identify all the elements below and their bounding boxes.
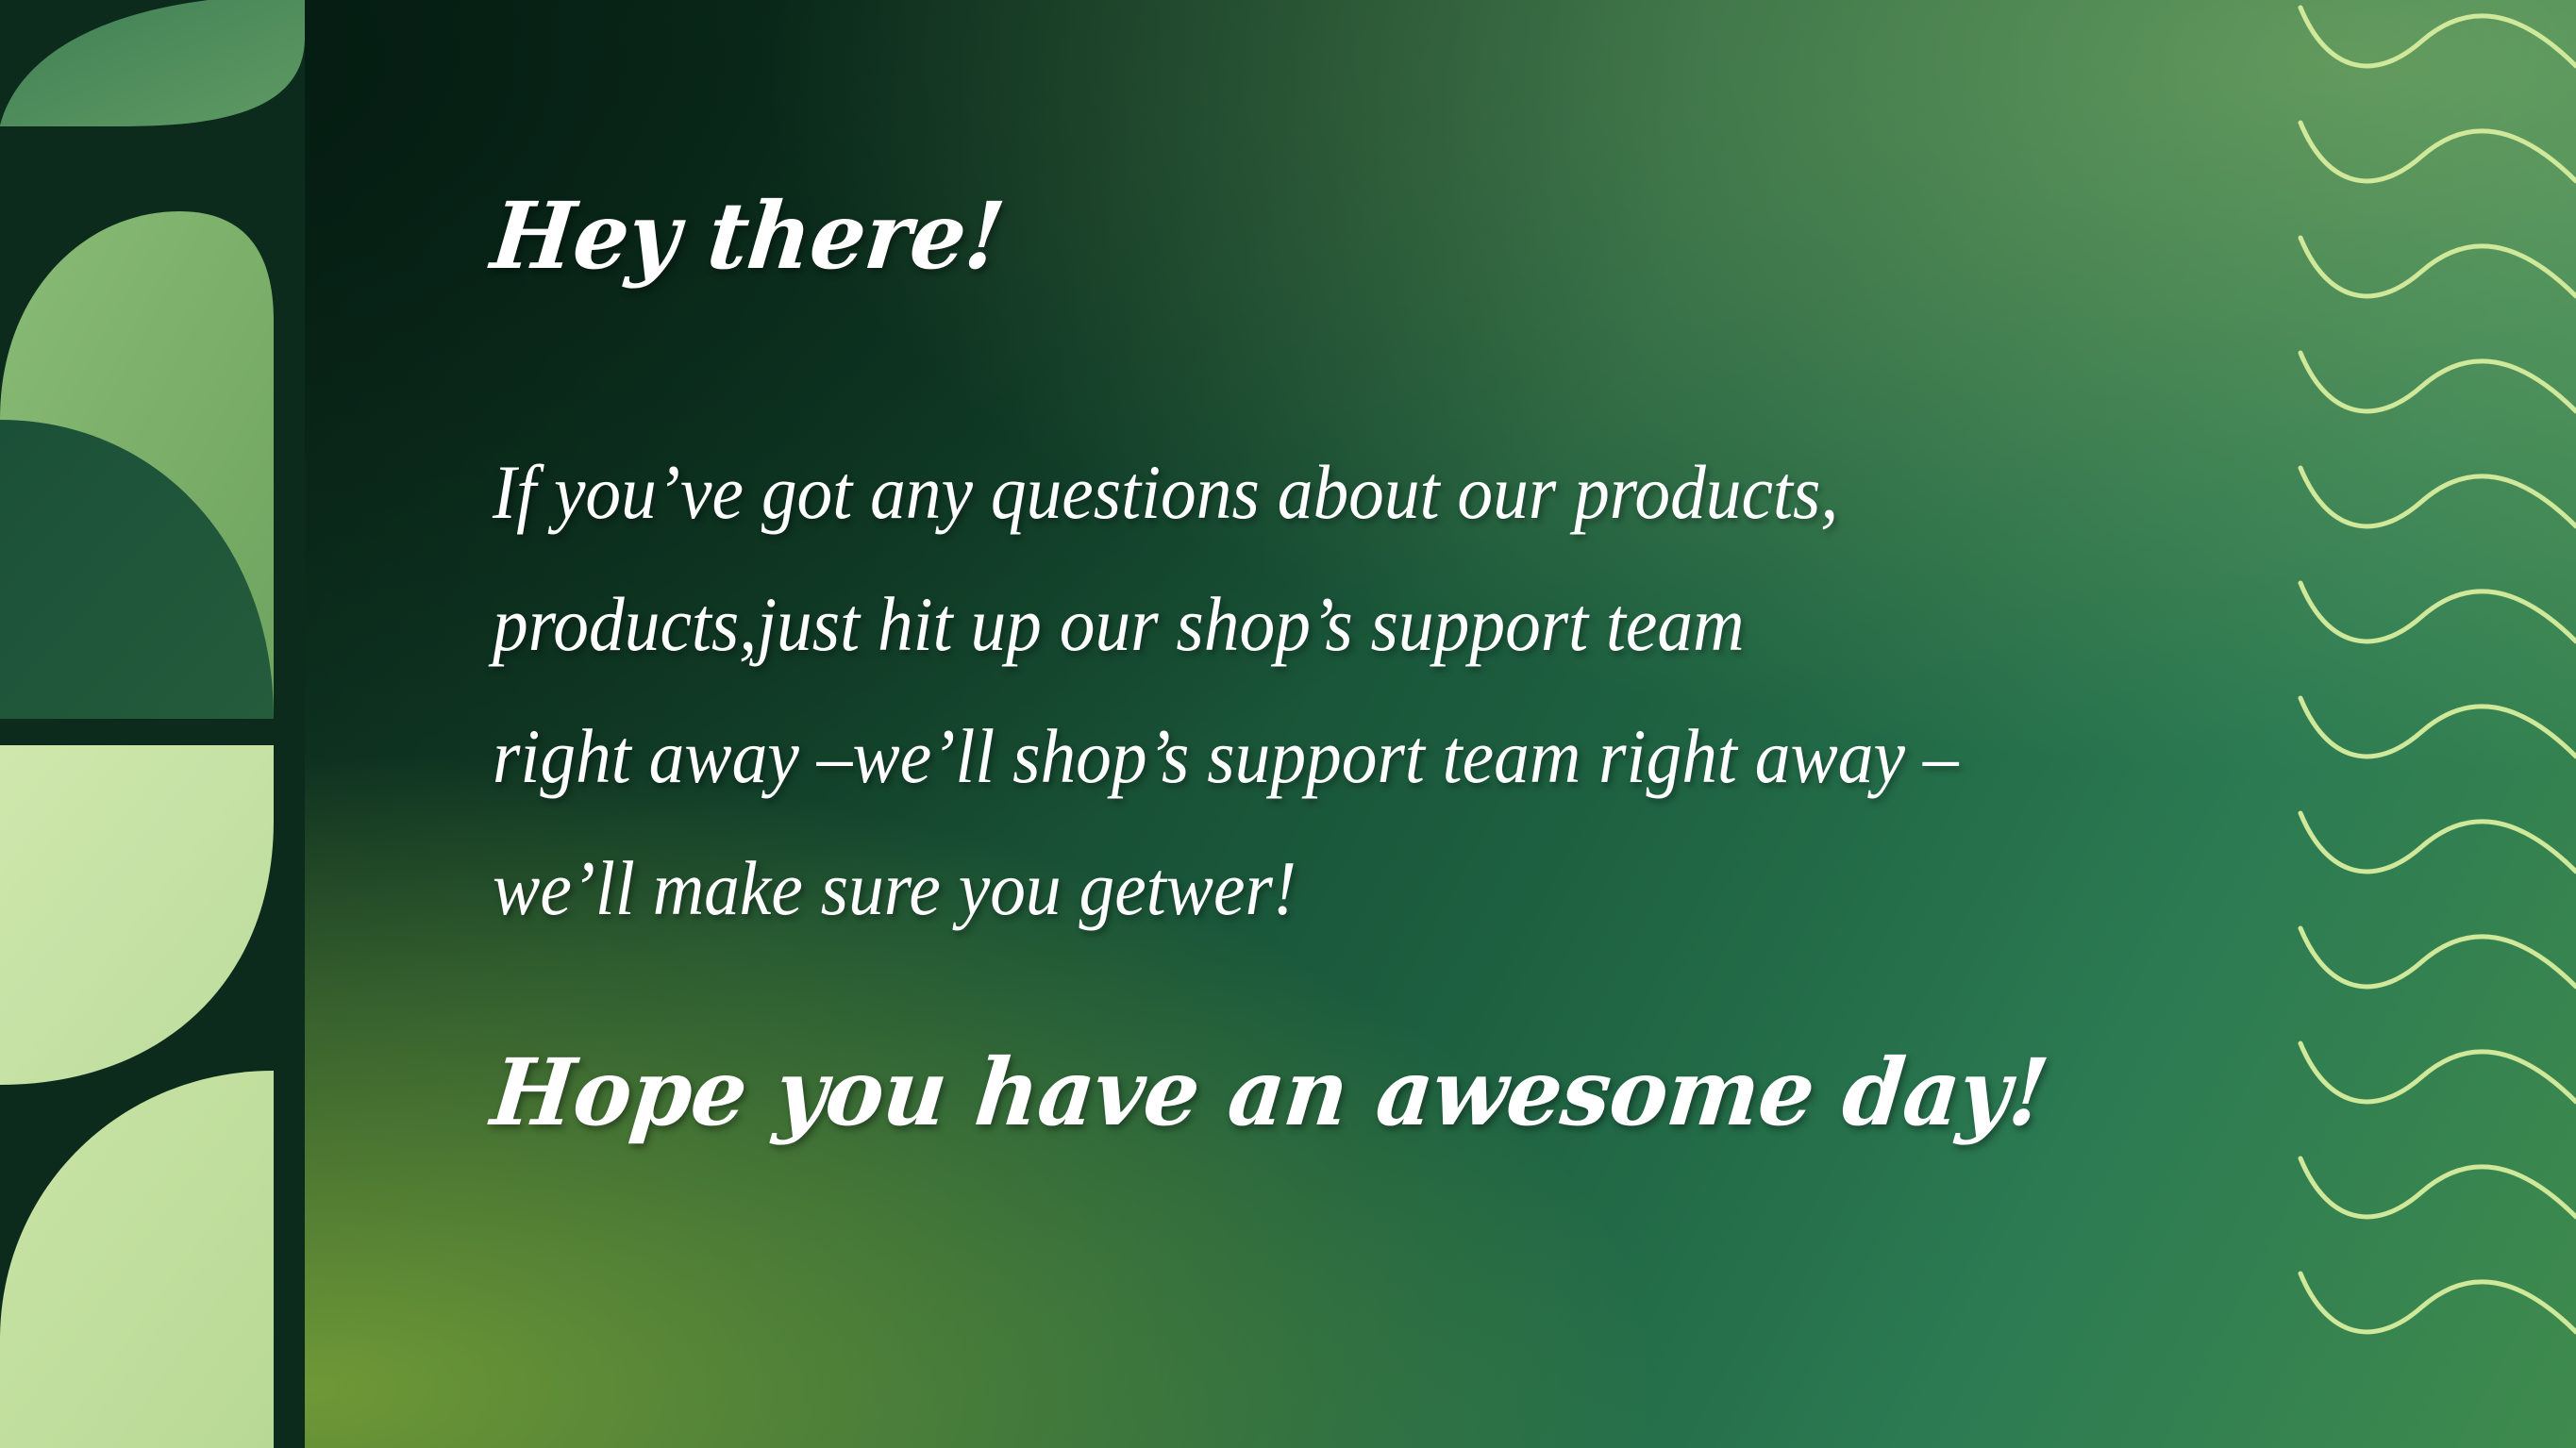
body-line: we’ll make sure you getwer! <box>493 823 2133 955</box>
left-decoration-panel <box>0 0 305 1448</box>
greeting-heading: Hey there! <box>487 182 1009 290</box>
wave-line <box>2300 238 2576 296</box>
body-line: products,just hit up our shop’s support … <box>493 558 2133 691</box>
wave-line <box>2300 1273 2576 1332</box>
right-decoration-panel <box>2283 0 2576 1448</box>
wavy-line-pattern <box>2283 0 2576 1448</box>
wave-line <box>2300 8 2576 66</box>
wave-line <box>2300 123 2576 181</box>
greeting-slide: Hey there! If you’ve got any questions a… <box>0 0 2576 1448</box>
closing-heading: Hope you have an awesome day! <box>487 1039 2053 1146</box>
body-paragraph: If you’ve got any questions about our pr… <box>493 426 2133 955</box>
wave-line <box>2300 468 2576 526</box>
message-text-block: Hey there! If you’ve got any questions a… <box>483 0 2276 1448</box>
wave-line-group <box>2300 8 2576 1332</box>
body-line: If you’ve got any questions about our pr… <box>493 426 2133 558</box>
body-line: right away –we’ll shop’s support team ri… <box>493 691 2133 823</box>
wave-line <box>2300 353 2576 411</box>
wave-line <box>2300 698 2576 757</box>
wave-line <box>2300 1043 2576 1102</box>
wave-line <box>2300 1158 2576 1217</box>
wave-line <box>2300 928 2576 987</box>
wave-line <box>2300 813 2576 872</box>
leaf-arch-shape-column <box>0 0 305 1448</box>
wave-line <box>2300 583 2576 641</box>
